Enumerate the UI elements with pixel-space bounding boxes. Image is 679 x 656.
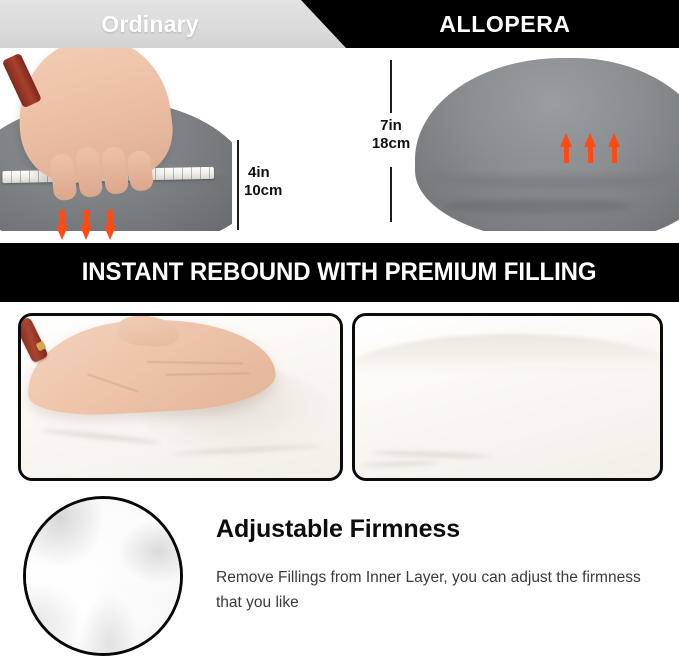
brand-header-label: ALLOPERA xyxy=(350,0,660,48)
fiber-fluff-shading xyxy=(26,499,180,653)
headline-text: INSTANT REBOUND WITH PREMIUM FILLING xyxy=(82,258,597,287)
comparison-photo-row: 4in 10cm 7in 18cm xyxy=(0,48,679,231)
rebound-panel xyxy=(352,313,663,481)
measure-line-bottom xyxy=(390,167,392,222)
downward-arrow-group xyxy=(56,210,117,241)
hand-press-panel xyxy=(18,313,343,481)
finger xyxy=(49,153,77,201)
headline-banner: INSTANT REBOUND WITH PREMIUM FILLING xyxy=(0,243,679,302)
ordinary-measure-imperial: 4in xyxy=(248,165,270,182)
rebound-demo-panels xyxy=(0,313,679,481)
arrow-up-icon xyxy=(560,132,573,163)
arrow-down-icon xyxy=(56,210,69,241)
finger xyxy=(75,146,104,198)
comparison-header-banner: Ordinary ALLOPERA xyxy=(0,0,679,48)
feature-title: Adjustable Firmness xyxy=(216,515,656,544)
allopera-measure-metric: 18cm xyxy=(337,136,445,153)
allopera-pillow-photo xyxy=(413,48,679,231)
arrow-down-icon xyxy=(104,210,117,241)
measure-line-top xyxy=(390,60,392,113)
finger xyxy=(101,146,130,195)
arrow-up-icon xyxy=(608,132,621,163)
arrow-down-icon xyxy=(80,210,93,241)
adjustable-firmness-section: Adjustable Firmness Remove Fillings from… xyxy=(0,487,679,656)
ordinary-header-label: Ordinary xyxy=(0,0,300,48)
wrist-band xyxy=(2,53,42,109)
fiber-filling-image xyxy=(23,496,183,656)
allopera-measure-imperial: 7in xyxy=(337,118,445,135)
feature-text-block: Adjustable Firmness Remove Fillings from… xyxy=(216,515,656,615)
ordinary-pillow-photo xyxy=(0,48,232,231)
finger xyxy=(126,150,154,193)
pressing-hand xyxy=(10,48,178,189)
ordinary-measure-metric: 10cm xyxy=(244,183,282,200)
upward-arrow-group xyxy=(560,132,621,163)
measure-line xyxy=(237,140,239,230)
feature-description: Remove Fillings from Inner Layer, you ca… xyxy=(216,565,641,615)
product-infographic: Ordinary ALLOPERA xyxy=(0,0,679,656)
lofted-pillow-shape xyxy=(415,58,679,231)
arrow-up-icon xyxy=(584,132,597,163)
